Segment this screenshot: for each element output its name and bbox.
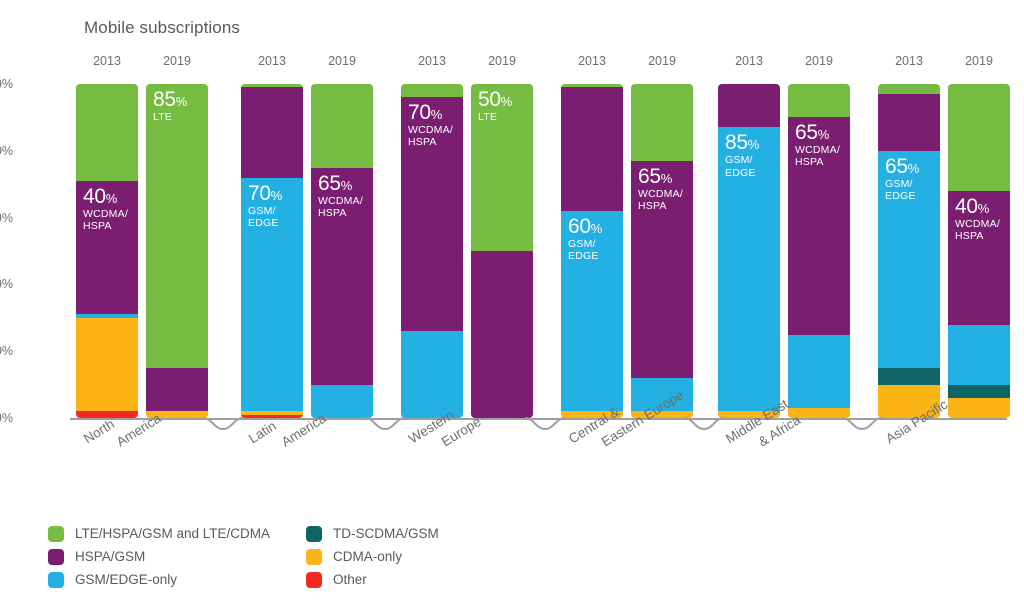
bar-segment-gsm[interactable]	[948, 325, 1010, 385]
bar-segment-gsm[interactable]: 60%GSM/EDGE	[561, 211, 623, 411]
bar-segment-lte[interactable]	[76, 84, 138, 181]
stacked-bar[interactable]: 65%WCDMA/HSPA	[311, 84, 373, 418]
bar-segment-lte[interactable]	[788, 84, 850, 117]
bar-segment-hspa[interactable]	[241, 87, 303, 177]
stacked-bar[interactable]: 70%WCDMA/HSPA	[401, 84, 463, 418]
stacked-bar[interactable]: 85%GSM/EDGE	[718, 84, 780, 418]
segment-data-label: 70%GSM/EDGE	[248, 183, 282, 229]
bar-segment-hspa[interactable]: 65%WCDMA/HSPA	[311, 168, 373, 385]
bar-segment-hspa[interactable]	[718, 84, 780, 127]
bar-segment-lte[interactable]: 85%LTE	[146, 84, 208, 368]
bar-segment-cdma[interactable]	[948, 398, 1010, 418]
segment-data-label: 50%LTE	[478, 89, 512, 123]
stacked-bar[interactable]: 85%LTE	[146, 84, 208, 418]
legend-item-hspa[interactable]: HSPA/GSM	[48, 545, 270, 568]
bar-segment-tdscdma[interactable]	[948, 385, 1010, 398]
year-label-2019: 2019	[146, 54, 208, 68]
bar-segment-lte[interactable]	[631, 84, 693, 161]
segment-data-label: 60%GSM/EDGE	[568, 216, 602, 262]
legend-swatch-icon	[48, 549, 64, 565]
y-axis-tick: 40%	[0, 277, 13, 291]
bar-segment-gsm[interactable]: 65%GSM/EDGE	[878, 151, 940, 368]
bar-group: 40%WCDMA/HSPA85%LTE	[76, 84, 208, 418]
legend-swatch-icon	[48, 572, 64, 588]
bar-segment-hspa[interactable]: 70%WCDMA/HSPA	[401, 97, 463, 331]
bar-segment-lte[interactable]	[311, 84, 373, 168]
bar-segment-tdscdma[interactable]	[878, 368, 940, 385]
bar-group: 60%GSM/EDGE65%WCDMA/HSPA	[561, 84, 693, 418]
segment-data-label: 85%LTE	[153, 89, 187, 123]
stacked-bar[interactable]: 65%WCDMA/HSPA	[631, 84, 693, 418]
bar-segment-hspa[interactable]	[471, 251, 533, 418]
bar-segment-hspa[interactable]: 65%WCDMA/HSPA	[631, 161, 693, 378]
year-label-2019: 2019	[471, 54, 533, 68]
legend-swatch-icon	[306, 572, 322, 588]
stacked-bar[interactable]: 65%GSM/EDGE	[878, 84, 940, 418]
bar-segment-lte[interactable]: 50%LTE	[471, 84, 533, 251]
segment-data-label: 65%WCDMA/HSPA	[638, 166, 683, 212]
segment-data-label: 40%WCDMA/HSPA	[83, 186, 128, 232]
legend-column-2: TD-SCDMA/GSMCDMA-onlyOther	[306, 522, 439, 591]
year-label-2019: 2019	[311, 54, 373, 68]
legend-swatch-icon	[48, 526, 64, 542]
legend-item-lte[interactable]: LTE/HSPA/GSM and LTE/CDMA	[48, 522, 270, 545]
bar-segment-lte[interactable]	[878, 84, 940, 94]
legend-item-cdma[interactable]: CDMA-only	[306, 545, 439, 568]
bar-segment-gsm[interactable]: 70%GSM/EDGE	[241, 178, 303, 412]
segment-data-label: 85%GSM/EDGE	[725, 132, 759, 178]
axis-break-squiggle	[365, 416, 405, 434]
stacked-bar[interactable]: 65%WCDMA/HSPA	[788, 84, 850, 418]
stacked-bar[interactable]: 40%WCDMA/HSPA	[76, 84, 138, 418]
y-axis-tick: 20%	[0, 344, 13, 358]
legend-label: CDMA-only	[333, 549, 402, 564]
legend-label: GSM/EDGE-only	[75, 572, 177, 587]
legend-label: Other	[333, 572, 367, 587]
legend-item-other[interactable]: Other	[306, 568, 439, 591]
bar-segment-lte[interactable]	[241, 84, 303, 87]
legend-label: LTE/HSPA/GSM and LTE/CDMA	[75, 526, 270, 541]
axis-break-squiggle	[525, 416, 565, 434]
y-axis-tick: 60%	[0, 211, 13, 225]
stacked-bar[interactable]: 60%GSM/EDGE	[561, 84, 623, 418]
plot-area: 40%WCDMA/HSPA85%LTE70%GSM/EDGE65%WCDMA/H…	[72, 84, 1005, 418]
year-label-2013: 2013	[561, 54, 623, 68]
year-label-2013: 2013	[241, 54, 303, 68]
y-axis-tick: 80%	[0, 144, 13, 158]
bar-group: 65%GSM/EDGE40%WCDMA/HSPA	[878, 84, 1010, 418]
segment-data-label: 65%WCDMA/HSPA	[795, 122, 840, 168]
year-label-2019: 2019	[788, 54, 850, 68]
bar-segment-gsm[interactable]	[76, 314, 138, 317]
stacked-bar[interactable]: 40%WCDMA/HSPA	[948, 84, 1010, 418]
bar-segment-hspa[interactable]	[561, 87, 623, 211]
bar-segment-gsm[interactable]	[788, 335, 850, 408]
year-label-2019: 2019	[631, 54, 693, 68]
chart-root: Mobile subscriptions 100%80%60%40%20%0% …	[0, 0, 1024, 609]
axis-break-squiggle	[684, 416, 724, 434]
y-axis-tick: 0%	[0, 411, 13, 425]
stacked-bar[interactable]: 70%GSM/EDGE	[241, 84, 303, 418]
bar-segment-hspa[interactable]	[146, 368, 208, 411]
segment-data-label: 65%WCDMA/HSPA	[318, 173, 363, 219]
year-label-2013: 2013	[718, 54, 780, 68]
legend-column-1: LTE/HSPA/GSM and LTE/CDMAHSPA/GSMGSM/EDG…	[48, 522, 270, 591]
bar-segment-lte[interactable]	[561, 84, 623, 87]
bar-segment-hspa[interactable]	[878, 94, 940, 151]
bar-segment-lte[interactable]	[948, 84, 1010, 191]
year-label-2019: 2019	[948, 54, 1010, 68]
bar-segment-cdma[interactable]	[76, 318, 138, 412]
bar-group: 70%WCDMA/HSPA50%LTE	[401, 84, 533, 418]
axis-break-squiggle	[842, 416, 882, 434]
bar-segment-lte[interactable]	[401, 84, 463, 97]
legend-swatch-icon	[306, 549, 322, 565]
legend-swatch-icon	[306, 526, 322, 542]
axis-break-squiggle	[203, 416, 243, 434]
year-label-2013: 2013	[76, 54, 138, 68]
bar-segment-gsm[interactable]: 85%GSM/EDGE	[718, 127, 780, 411]
segment-data-label: 40%WCDMA/HSPA	[955, 196, 1000, 242]
bar-segment-hspa[interactable]: 40%WCDMA/HSPA	[948, 191, 1010, 325]
segment-data-label: 70%WCDMA/HSPA	[408, 102, 453, 148]
legend-label: HSPA/GSM	[75, 549, 145, 564]
bar-group: 85%GSM/EDGE65%WCDMA/HSPA	[718, 84, 850, 418]
y-axis-tick: 100%	[0, 77, 13, 91]
year-label-2013: 2013	[401, 54, 463, 68]
bar-group: 70%GSM/EDGE65%WCDMA/HSPA	[241, 84, 373, 418]
bar-segment-hspa[interactable]: 40%WCDMA/HSPA	[76, 181, 138, 315]
stacked-bar[interactable]: 50%LTE	[471, 84, 533, 418]
segment-data-label: 65%GSM/EDGE	[885, 156, 919, 202]
bar-segment-hspa[interactable]: 65%WCDMA/HSPA	[788, 117, 850, 334]
year-label-2013: 2013	[878, 54, 940, 68]
legend-label: TD-SCDMA/GSM	[333, 526, 439, 541]
legend-item-gsm[interactable]: GSM/EDGE-only	[48, 568, 270, 591]
legend-item-tdscdma[interactable]: TD-SCDMA/GSM	[306, 522, 439, 545]
